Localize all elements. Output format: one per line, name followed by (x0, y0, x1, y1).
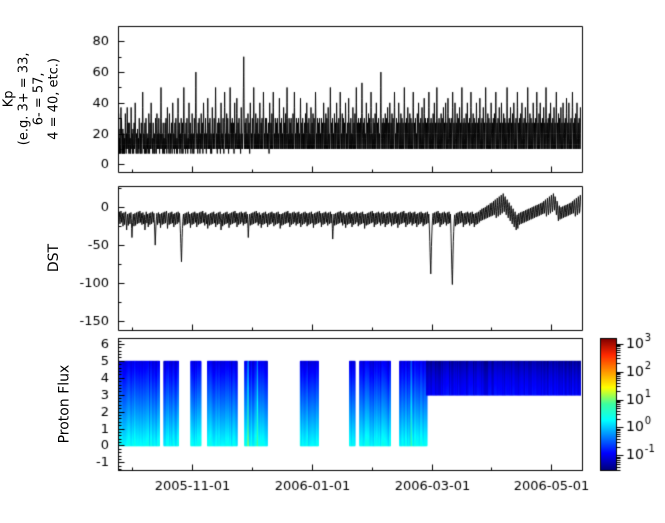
kp-axis-label: Kp (e.g. 3+ = 33, 6- = 57, 4 = 40, etc.) (2, 53, 62, 146)
proton-flux-axis-label: Proton Flux (56, 365, 72, 444)
space-weather-figure: Kp (e.g. 3+ = 33, 6- = 57, 4 = 40, etc.)… (0, 0, 665, 523)
plot-canvas (0, 0, 665, 523)
dst-axis-label: DST (46, 244, 62, 272)
